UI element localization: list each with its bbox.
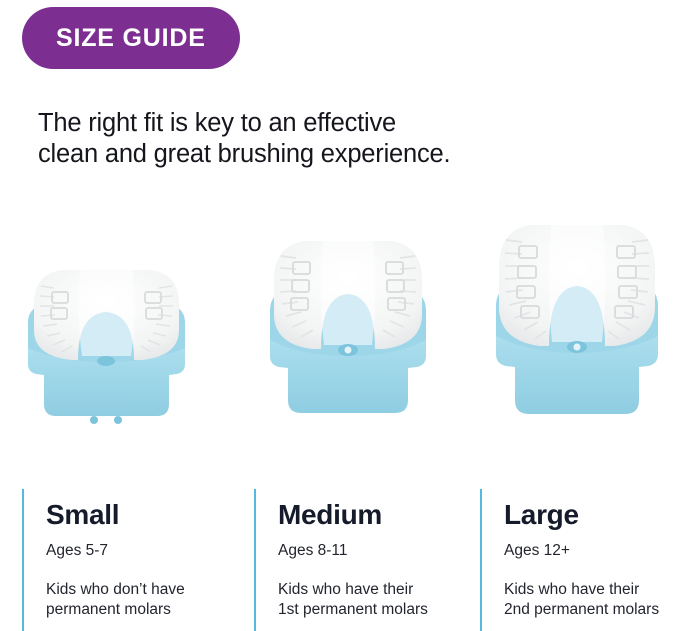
size-column-small: Small Ages 5-7 Kids who don’t have perma… xyxy=(22,489,254,631)
u-shaped-toothbrush-mouthpiece-icon xyxy=(258,222,438,444)
size-desc-medium: Kids who have their 1st permanent molars xyxy=(278,561,480,621)
size-desc-large-line-1: Kids who have their xyxy=(504,581,639,598)
product-image-medium xyxy=(258,222,438,444)
headline-line-2: clean and great brushing experience. xyxy=(38,140,450,168)
headline-line-1: The right fit is key to an effective xyxy=(38,109,396,137)
size-column-large: Large Ages 12+ Kids who have their 2nd p… xyxy=(480,489,679,631)
size-desc-medium-line-2: 1st permanent molars xyxy=(278,601,428,618)
product-image-small xyxy=(14,244,199,444)
size-desc-small-line-2: permanent molars xyxy=(46,601,171,618)
u-shaped-toothbrush-mouthpiece-icon xyxy=(14,244,199,444)
u-shaped-toothbrush-mouthpiece-icon xyxy=(484,210,670,444)
size-desc-medium-line-1: Kids who have their xyxy=(278,581,413,598)
size-ages-medium: Ages 8-11 xyxy=(278,529,480,561)
size-guide-badge-container: SIZE GUIDE xyxy=(22,7,240,69)
size-guide-badge: SIZE GUIDE xyxy=(22,7,240,69)
size-desc-small: Kids who don’t have permanent molars xyxy=(46,561,254,621)
size-columns: Small Ages 5-7 Kids who don’t have perma… xyxy=(0,489,679,631)
size-desc-large-line-2: 2nd permanent molars xyxy=(504,601,659,618)
size-desc-small-line-1: Kids who don’t have xyxy=(46,581,185,598)
product-image-large xyxy=(484,210,670,444)
size-ages-large: Ages 12+ xyxy=(504,529,679,561)
size-desc-large: Kids who have their 2nd permanent molars xyxy=(504,561,679,621)
headline: The right fit is key to an effective cle… xyxy=(38,108,628,170)
size-title-small: Small xyxy=(46,489,254,529)
size-ages-small: Ages 5-7 xyxy=(46,529,254,561)
size-title-medium: Medium xyxy=(278,489,480,529)
size-column-medium: Medium Ages 8-11 Kids who have their 1st… xyxy=(254,489,480,631)
size-title-large: Large xyxy=(504,489,679,529)
product-image-row xyxy=(0,190,679,450)
